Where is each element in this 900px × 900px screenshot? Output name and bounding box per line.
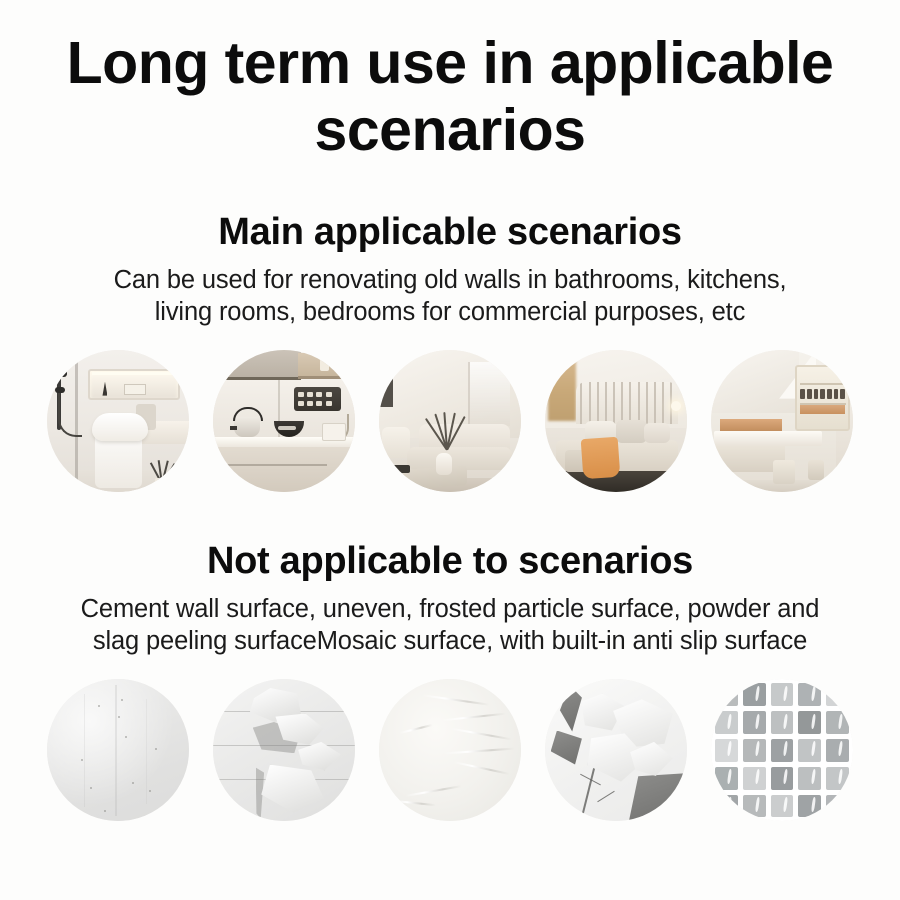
- surface-thumbnail-frosted-particle: [379, 679, 521, 821]
- bathroom-illustration: [47, 350, 189, 492]
- scenario-thumbnail-kitchen: [213, 350, 355, 492]
- mosaic-tile: [826, 767, 849, 790]
- scenario-thumbnail-commercial-space: [711, 350, 853, 492]
- section-description-applicable: Can be used for renovating old walls in …: [10, 264, 890, 329]
- mosaic-tile: [798, 795, 821, 818]
- mosaic-tile: [798, 767, 821, 790]
- surface-thumbnail-cement-wall: [47, 679, 189, 821]
- mosaic-tile: [826, 795, 849, 818]
- description-line-2: slag peeling surfaceMosaic surface, with…: [10, 625, 890, 657]
- mosaic-tile: [826, 683, 849, 706]
- description-line-1: Can be used for renovating old walls in …: [10, 264, 890, 296]
- mosaic-tile: [771, 739, 794, 762]
- scenario-thumbnail-bedroom: [545, 350, 687, 492]
- cement-wall-texture: [47, 679, 189, 821]
- mosaic-tile: [743, 739, 766, 762]
- surface-thumbnail-powder-slag-peeling: [545, 679, 687, 821]
- section-heading-applicable: Main applicable scenarios: [0, 211, 900, 254]
- section-not-applicable-scenarios: Not applicable to scenarios Cement wall …: [0, 540, 900, 821]
- mosaic-tile: [771, 767, 794, 790]
- section-heading-not-applicable: Not applicable to scenarios: [0, 540, 900, 583]
- mosaic-tile: [826, 739, 849, 762]
- frosted-particle-texture: [379, 679, 521, 821]
- mosaic-tile: [743, 711, 766, 734]
- scenario-thumbnail-living-room: [379, 350, 521, 492]
- page-title: Long term use in applicable scenarios: [0, 0, 900, 163]
- mosaic-tile: [798, 739, 821, 762]
- mosaic-tile: [743, 795, 766, 818]
- mosaic-tile: [715, 767, 738, 790]
- uneven-surface-texture: [213, 679, 355, 821]
- mosaic-tile: [798, 683, 821, 706]
- section-description-not-applicable: Cement wall surface, uneven, frosted par…: [10, 593, 890, 658]
- page-title-line-2: scenarios: [60, 97, 840, 164]
- page-title-line-1: Long term use in applicable: [60, 30, 840, 97]
- mosaic-tile: [715, 795, 738, 818]
- mosaic-tile: [715, 739, 738, 762]
- mosaic-tile: [715, 683, 738, 706]
- scenario-thumbnail-bathroom: [47, 350, 189, 492]
- mosaic-tile: [743, 767, 766, 790]
- description-line-1: Cement wall surface, uneven, frosted par…: [10, 593, 890, 625]
- surface-thumbnail-uneven: [213, 679, 355, 821]
- mosaic-tile: [743, 683, 766, 706]
- applicable-scenario-thumbnails: [0, 350, 900, 492]
- mosaic-tile: [771, 795, 794, 818]
- bedroom-illustration: [545, 350, 687, 492]
- not-applicable-surface-thumbnails: [0, 679, 900, 821]
- section-applicable-scenarios: Main applicable scenarios Can be used fo…: [0, 211, 900, 492]
- powder-slag-peeling-texture: [545, 679, 687, 821]
- infographic-page: Long term use in applicable scenarios Ma…: [0, 0, 900, 900]
- mosaic-tile: [715, 711, 738, 734]
- surface-thumbnail-mosaic: [711, 679, 853, 821]
- description-line-2: living rooms, bedrooms for commercial pu…: [10, 296, 890, 328]
- mosaic-tile-grid: [711, 679, 853, 821]
- commercial-space-illustration: [711, 350, 853, 492]
- mosaic-tile: [826, 711, 849, 734]
- mosaic-tile: [771, 683, 794, 706]
- mosaic-tile: [771, 711, 794, 734]
- mosaic-surface-texture: [711, 679, 853, 821]
- living-room-illustration: [379, 350, 521, 492]
- kitchen-illustration: [213, 350, 355, 492]
- mosaic-tile: [798, 711, 821, 734]
